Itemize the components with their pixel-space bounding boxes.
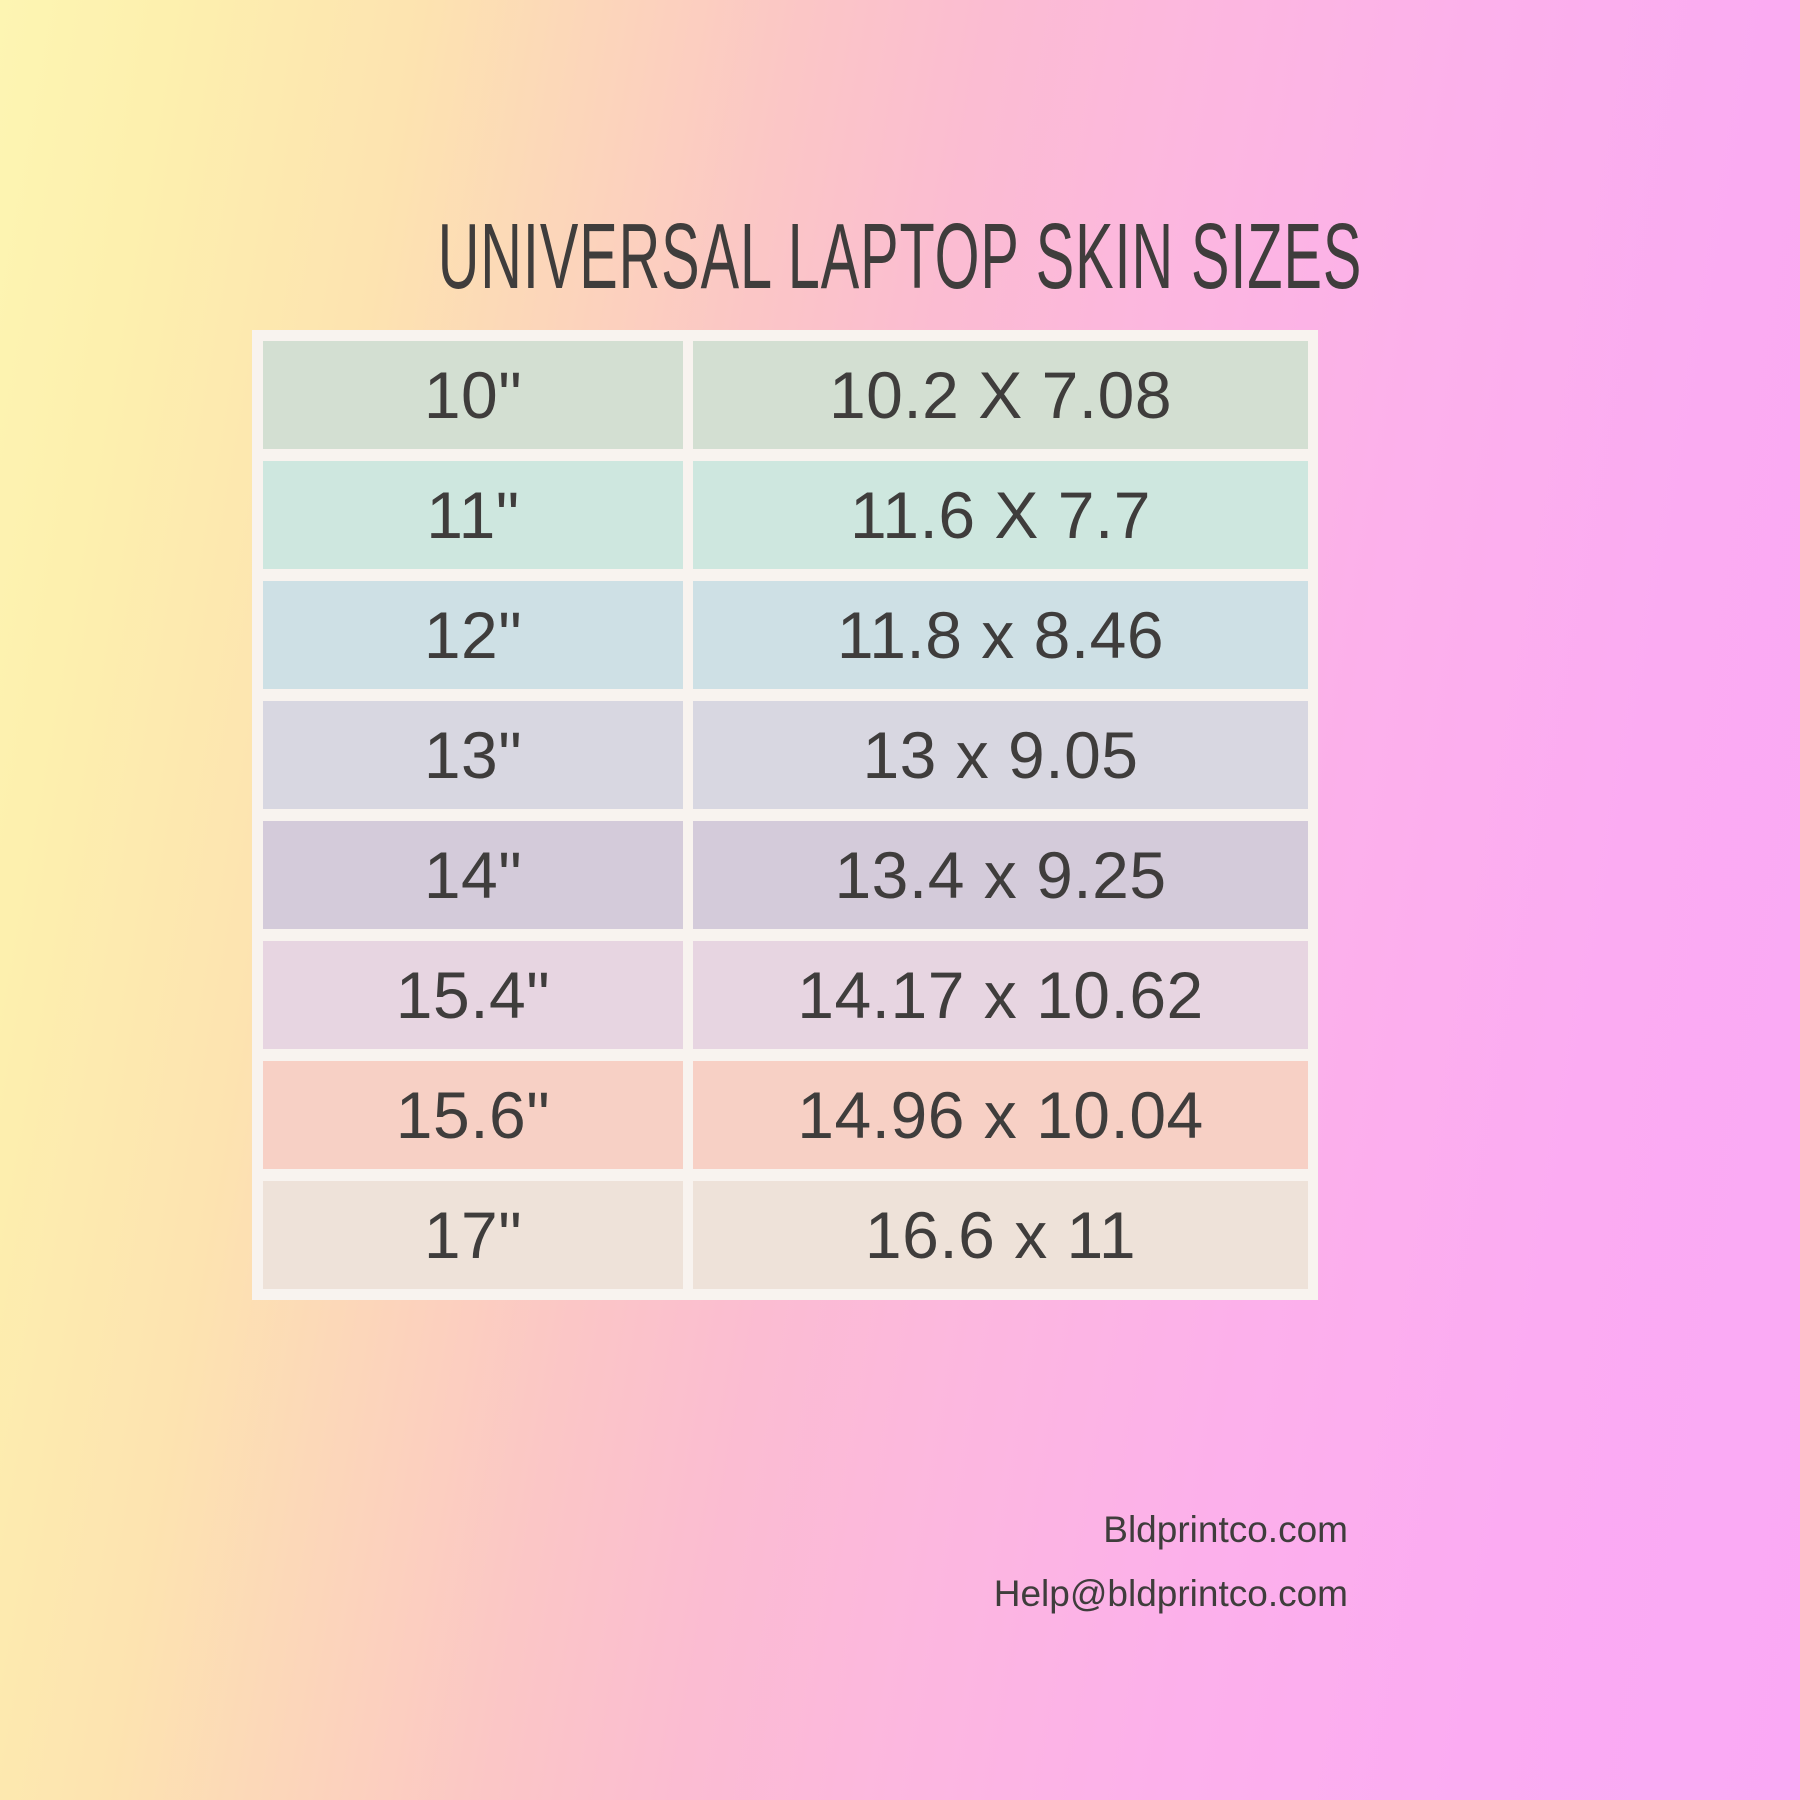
cell-skin-dimensions: 13 x 9.05	[693, 701, 1308, 809]
cell-skin-dimensions: 10.2 X 7.08	[693, 341, 1308, 449]
cell-skin-dimensions: 11.8 x 8.46	[693, 581, 1308, 689]
table-row: 12"11.8 x 8.46	[263, 581, 1308, 689]
cell-skin-dimensions: 14.96 x 10.04	[693, 1061, 1308, 1169]
table-row: 15.4"14.17 x 10.62	[263, 941, 1308, 1049]
poster-canvas: UNIVERSAL LAPTOP SKIN SIZES 10"10.2 X 7.…	[0, 0, 1800, 1800]
cell-screen-size: 11"	[263, 461, 683, 569]
cell-screen-size: 15.6"	[263, 1061, 683, 1169]
table-row: 10"10.2 X 7.08	[263, 341, 1308, 449]
table-row: 15.6"14.96 x 10.04	[263, 1061, 1308, 1169]
cell-skin-dimensions: 13.4 x 9.25	[693, 821, 1308, 929]
cell-skin-dimensions: 16.6 x 11	[693, 1181, 1308, 1289]
cell-screen-size: 12"	[263, 581, 683, 689]
laptop-skin-size-table: 10"10.2 X 7.0811"11.6 X 7.712"11.8 x 8.4…	[252, 330, 1318, 1300]
table-row: 13"13 x 9.05	[263, 701, 1308, 809]
page-title: UNIVERSAL LAPTOP SKIN SIZES	[342, 206, 1458, 306]
cell-skin-dimensions: 14.17 x 10.62	[693, 941, 1308, 1049]
footer-contact: Bldprintco.com Help@bldprintco.com	[994, 1498, 1348, 1626]
cell-screen-size: 15.4"	[263, 941, 683, 1049]
cell-screen-size: 14"	[263, 821, 683, 929]
cell-screen-size: 13"	[263, 701, 683, 809]
footer-website[interactable]: Bldprintco.com	[994, 1498, 1348, 1562]
cell-screen-size: 17"	[263, 1181, 683, 1289]
cell-screen-size: 10"	[263, 341, 683, 449]
cell-skin-dimensions: 11.6 X 7.7	[693, 461, 1308, 569]
table-row: 11"11.6 X 7.7	[263, 461, 1308, 569]
footer-email[interactable]: Help@bldprintco.com	[994, 1562, 1348, 1626]
table-row: 14"13.4 x 9.25	[263, 821, 1308, 929]
table-row: 17"16.6 x 11	[263, 1181, 1308, 1289]
